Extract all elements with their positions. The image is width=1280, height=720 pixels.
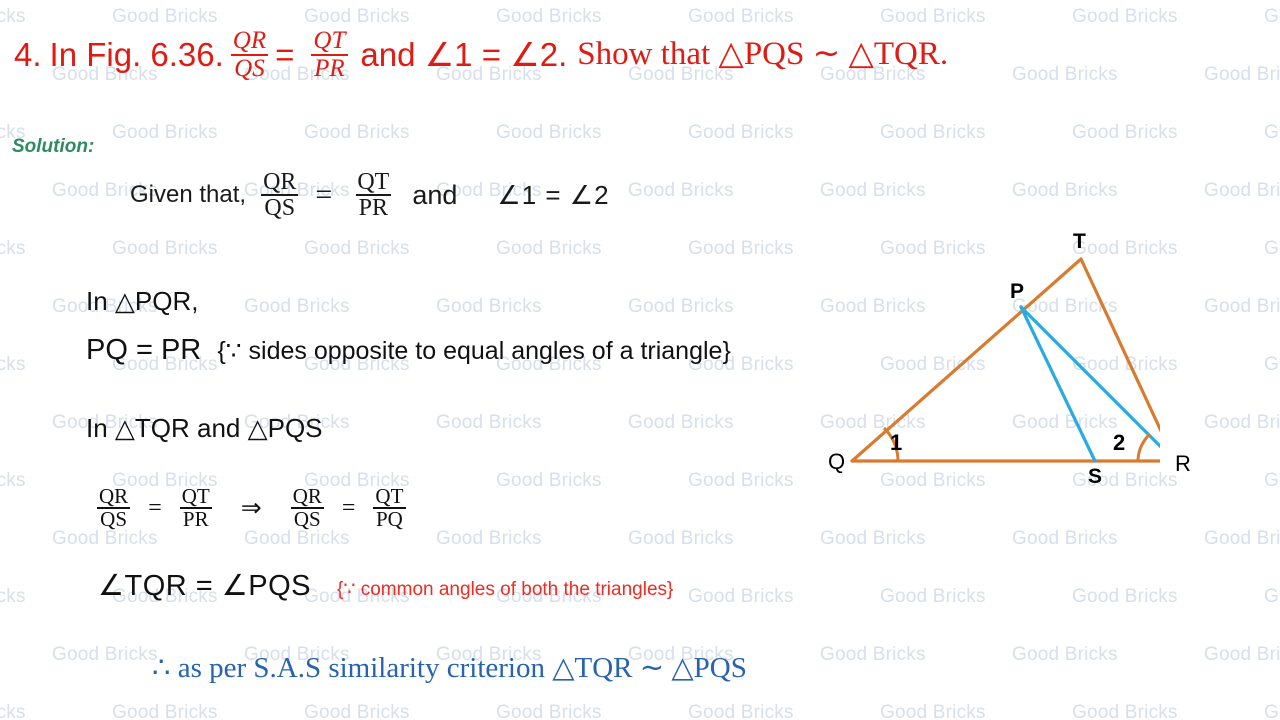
slide-content: 4. In Fig. 6.36. QR QS = QT PR and ∠1 = …	[0, 0, 1280, 720]
figure-svg	[820, 225, 1160, 510]
angle-equality-line: ∠TQR = ∠PQS {∵ common angles of both the…	[98, 568, 673, 603]
given-fraction-right: QT PR	[354, 170, 392, 221]
fraction-numerator: QT	[354, 170, 392, 194]
chain-fraction-third: QR QS	[290, 486, 325, 531]
angle-label-1: 1	[890, 430, 902, 456]
given-line: Given that, QR QS = QT PR and ∠1 = ∠2	[130, 170, 610, 221]
chain-op-2: =	[342, 495, 356, 522]
step-pq-equals-pr: PQ = PR {∵ sides opposite to equal angle…	[86, 334, 731, 367]
vertex-label-t: T	[1073, 230, 1086, 254]
angle-equality-note: {∵ common angles of both the triangles}	[337, 578, 673, 601]
fraction-numerator: QT	[310, 28, 348, 54]
question-prefix: In Fig. 6.36.	[50, 38, 224, 71]
fraction-numerator: QT	[179, 486, 213, 507]
fraction-numerator: QR	[230, 28, 269, 54]
question-title: 4. In Fig. 6.36. QR QS = QT PR and ∠1 = …	[14, 28, 948, 81]
conclusion-line: ∴ as per S.A.S similarity criterion △TQR…	[152, 650, 747, 685]
solution-label: Solution:	[12, 136, 94, 158]
question-number: 4.	[14, 38, 42, 71]
vertex-label-s: S	[1088, 465, 1102, 489]
question-fraction-left: QR QS	[230, 28, 269, 81]
angle-arc-2	[1138, 434, 1150, 461]
given-equals: =	[315, 178, 332, 212]
question-fraction-right: QT PR	[310, 28, 348, 81]
fraction-denominator: PR	[311, 54, 348, 82]
vertex-label-q: Q	[828, 449, 845, 475]
step-in-pqr: In △PQR,	[86, 286, 198, 317]
fraction-denominator: PQ	[373, 507, 406, 530]
fraction-chain-line: QR QS = QT PR ⇒ QR QS = QT PQ	[90, 486, 412, 531]
angle-equality-statement: ∠TQR = ∠PQS	[98, 568, 311, 603]
geometry-figure: Q T R P S 1 2	[820, 225, 1160, 510]
angle-label-2: 2	[1113, 430, 1125, 456]
fraction-numerator: QR	[96, 486, 131, 507]
chain-implies-symbol: ⇒	[241, 493, 262, 523]
given-fraction-left: QR QS	[260, 170, 299, 221]
question-suffix: Show that △PQS ∼ △TQR.	[577, 38, 948, 71]
chain-fraction-first: QR QS	[96, 486, 131, 531]
chain-fraction-second: QT PR	[179, 486, 213, 531]
vertex-label-r: R	[1175, 451, 1191, 477]
fraction-denominator: QS	[291, 507, 324, 530]
step-pq-pr-note: {∵ sides opposite to equal angles of a t…	[217, 337, 731, 365]
given-lead: Given that,	[130, 181, 246, 209]
fraction-denominator: PR	[356, 194, 391, 220]
given-angles: ∠1 = ∠2	[497, 180, 609, 211]
chain-fraction-fourth: QT PQ	[372, 486, 406, 531]
fraction-denominator: QS	[261, 194, 298, 220]
fraction-denominator: PR	[180, 507, 212, 530]
given-and: and	[412, 180, 457, 211]
question-equals: =	[275, 38, 294, 71]
fraction-numerator: QT	[372, 486, 406, 507]
step-in-tqr-and-pqs: In △TQR and △PQS	[86, 413, 323, 444]
fraction-numerator: QR	[290, 486, 325, 507]
step-pq-pr-text: PQ = PR	[86, 334, 201, 366]
fraction-denominator: QS	[97, 507, 130, 530]
fraction-numerator: QR	[260, 170, 299, 194]
question-middle: and ∠1 = ∠2.	[360, 38, 567, 71]
vertex-label-p: P	[1010, 280, 1024, 304]
chain-op-1: =	[148, 495, 162, 522]
fraction-denominator: QS	[231, 54, 268, 82]
segment-ps	[1021, 307, 1095, 461]
